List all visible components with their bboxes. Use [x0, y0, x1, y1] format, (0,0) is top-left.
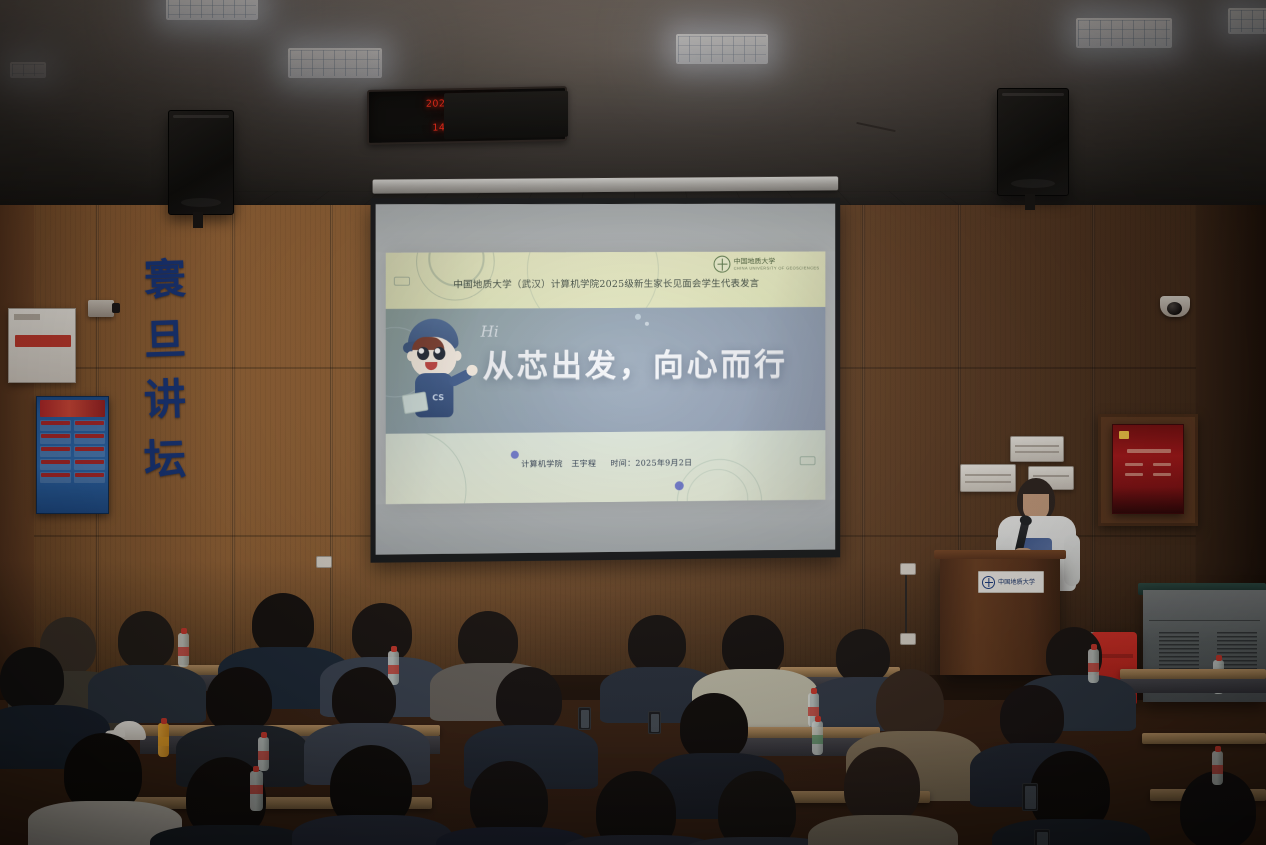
poster-cell — [74, 433, 105, 444]
audience-head — [844, 747, 920, 825]
credits-date-label: 时间： — [610, 459, 635, 468]
poster-header-bar — [40, 400, 105, 417]
poster-cell — [74, 459, 105, 470]
poster-red-topmark — [1119, 431, 1129, 439]
credits-org: 计算机学院 — [521, 459, 563, 468]
audience-head — [596, 771, 676, 845]
mascot-greeting-text: Hi — [481, 323, 499, 341]
audience-area — [0, 575, 1266, 845]
calligraphy-char-4: 坛 — [143, 437, 187, 482]
wall-speaker-left — [168, 110, 234, 215]
mascot-eye-left — [417, 347, 429, 360]
power-socket-mid[interactable] — [900, 563, 916, 575]
audience-head — [252, 593, 314, 655]
audience-head — [206, 667, 272, 733]
decor-dot — [635, 314, 641, 320]
university-logo: 中国地质大学 CHINA UNIVERSITY OF GEOSCIENCES — [714, 255, 820, 272]
university-logo-subtext: CHINA UNIVERSITY OF GEOSCIENCES — [734, 265, 820, 270]
mascot-book — [402, 391, 429, 414]
audience-shoulders — [88, 665, 206, 723]
left-wall-poster — [36, 396, 109, 514]
poster-cell — [74, 472, 105, 483]
projection-screen: 中国地质大学（武汉）计算机学院2025级新生家长见面会学生代表发言 中国地质大学… — [371, 177, 841, 562]
audience-shoulders — [808, 815, 958, 845]
slide-top-band: 中国地质大学（武汉）计算机学院2025级新生家长见面会学生代表发言 中国地质大学… — [386, 251, 826, 309]
audience-head — [628, 615, 686, 673]
water-bottle — [250, 771, 263, 811]
presentation-slide: 中国地质大学（武汉）计算机学院2025级新生家长见面会学生代表发言 中国地质大学… — [386, 251, 826, 504]
audience-head — [458, 611, 518, 671]
water-bottle — [1212, 751, 1223, 785]
poster-red-line — [1125, 463, 1143, 466]
mascot-hand — [467, 365, 478, 376]
smartphone[interactable] — [648, 711, 661, 734]
audience-shoulders — [150, 825, 308, 845]
security-camera-left — [88, 300, 114, 317]
credits-name: 王宇程 — [571, 459, 596, 468]
screen-surface: 中国地质大学（武汉）计算机学院2025级新生家长见面会学生代表发言 中国地质大学… — [376, 204, 836, 555]
poster-red-line — [1153, 463, 1171, 466]
university-logo-text-wrap: 中国地质大学 CHINA UNIVERSITY OF GEOSCIENCES — [734, 257, 820, 270]
audience-head — [718, 771, 796, 845]
poster-content-grid — [40, 420, 105, 483]
screen-blank-bottom — [376, 500, 836, 555]
audience-head — [680, 693, 748, 761]
fire-equipment-cabinet — [8, 308, 76, 383]
water-bottle — [812, 721, 823, 755]
slide-middle-band: CS Hi 从芯出发，向心而行 — [386, 307, 826, 434]
speaker-mount-right — [1025, 194, 1035, 210]
decor-dot — [511, 451, 519, 459]
decor-dot — [675, 481, 684, 490]
poster-cell — [40, 433, 71, 444]
poster-cell — [40, 420, 71, 431]
audience-shoulders — [992, 819, 1150, 845]
right-wall-poster — [1112, 424, 1184, 514]
desk-row-1c — [1120, 669, 1266, 679]
panel-slit — [1033, 475, 1070, 477]
poster-cell — [40, 472, 71, 483]
wall-panel-upper — [1010, 436, 1064, 462]
smartphone[interactable] — [1022, 783, 1038, 811]
audience-head — [118, 611, 174, 669]
poster-red-title — [1127, 449, 1171, 453]
calligraphy-char-2: 旦 — [143, 317, 187, 362]
panel-slit — [965, 474, 1010, 476]
poster-red-line — [1125, 473, 1143, 476]
security-camera-right — [1160, 296, 1190, 317]
water-bottle — [1088, 649, 1099, 683]
audience-head — [352, 603, 412, 663]
audience-head — [332, 667, 396, 731]
mascot-cs-badge: CS — [432, 393, 444, 402]
smartphone[interactable] — [1034, 829, 1050, 845]
smartphone[interactable] — [578, 707, 591, 730]
poster-cell — [40, 446, 71, 457]
mascot-character: CS — [400, 317, 473, 423]
university-logo-icon — [714, 256, 731, 273]
desk-row-2c — [1142, 733, 1266, 744]
slide-headline: 从芯出发，向心而行 — [483, 345, 818, 387]
lecture-hall-photo: 2025年09月02日 星期二 14时36分59秒 寰 旦 讲 坛 — [0, 0, 1266, 845]
slide-title: 中国地质大学（武汉）计算机学院2025级新生家长见面会学生代表发言 — [386, 278, 826, 291]
panel-slit — [1015, 451, 1059, 453]
water-bottle — [178, 633, 189, 667]
desk-row-1c-front — [1120, 679, 1266, 693]
audience-head — [722, 615, 784, 677]
water-bottle — [258, 737, 269, 771]
cabinet-red-label — [15, 335, 71, 347]
poster-cell — [74, 420, 105, 431]
podium-top-surface — [934, 550, 1066, 559]
screen-roller-housing — [373, 176, 839, 193]
audience-head — [876, 669, 944, 739]
decor-dot — [645, 322, 649, 326]
wall-speaker-right — [997, 88, 1069, 196]
audience-shoulders — [292, 815, 452, 845]
slide-bottom-band: 计算机学院 王宇程 时间：2025年9月2日 — [386, 430, 826, 504]
panel-slit — [1015, 445, 1059, 447]
speaker-mount-left — [193, 212, 203, 228]
poster-red-line — [1153, 473, 1171, 476]
wall-calligraphy: 寰 旦 讲 坛 — [130, 258, 200, 482]
screen-frame: 中国地质大学（武汉）计算机学院2025级新生家长见面会学生代表发言 中国地质大学… — [371, 198, 841, 563]
power-socket-left[interactable] — [316, 556, 332, 568]
mascot-ear-right — [453, 351, 461, 361]
audience-head — [496, 667, 562, 733]
credits-date: 2025年9月2日 — [635, 458, 692, 467]
audience-head — [1000, 685, 1064, 749]
calligraphy-char-1: 寰 — [143, 257, 187, 302]
screen-blank-top — [376, 204, 836, 253]
audience-shoulders — [436, 827, 588, 845]
poster-cell — [74, 446, 105, 457]
cabinet-label-strip — [14, 314, 40, 320]
calligraphy-char-3: 讲 — [143, 377, 187, 422]
university-logo-text: 中国地质大学 — [734, 257, 820, 265]
ceiling-speaker-bar — [444, 91, 568, 140]
mascot-ear-left — [407, 351, 415, 361]
mascot-eye-right — [433, 347, 445, 360]
juice-bottle — [158, 723, 169, 757]
audience-head — [0, 647, 64, 711]
decor-ring — [416, 251, 495, 300]
audience-head — [836, 629, 890, 683]
poster-cell — [40, 459, 71, 470]
